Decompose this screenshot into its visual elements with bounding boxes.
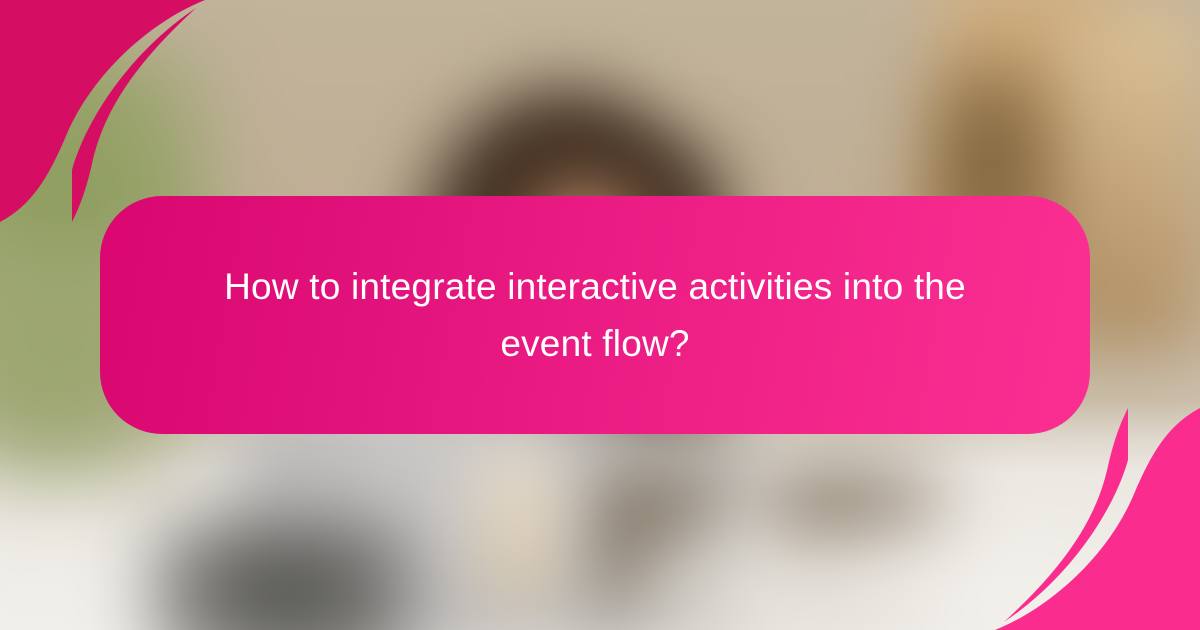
social-card-canvas: How to integrate interactive activities …	[0, 0, 1200, 630]
headline-text: How to integrate interactive activities …	[195, 258, 995, 373]
headline-card: How to integrate interactive activities …	[100, 196, 1090, 434]
